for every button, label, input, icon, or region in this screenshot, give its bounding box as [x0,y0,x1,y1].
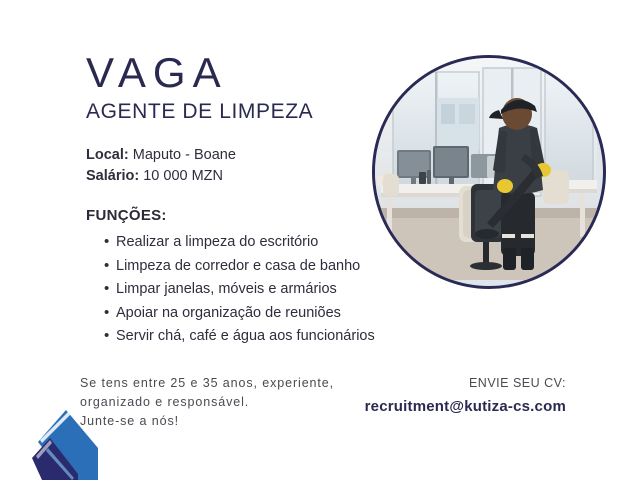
list-item: Realizar a limpeza do escritório [104,231,386,254]
cv-contact-block: ENVIE SEU CV: recruitment@kutiza-cs.com [365,374,566,418]
page-subtitle: AGENTE DE LIMPEZA [86,100,386,123]
location-value: Maputo - Boane [133,147,236,163]
duties-list: Realizar a limpeza do escritório Limpeza… [86,231,386,348]
location-row: Local: Maputo - Boane [86,145,386,166]
list-item: Servir chá, café e água aos funcionários [104,325,386,348]
duties-heading: FUNÇÕES: [86,207,386,224]
job-details: Local: Maputo - Boane Salário: 10 000 MZ… [86,145,386,187]
list-item: Limpar janelas, móveis e armários [104,278,386,301]
list-item: Apoiar na organização de reuniões [104,302,386,325]
requirements-line-1: Se tens entre 25 e 35 anos, experiente, [80,374,334,393]
cv-label: ENVIE SEU CV: [365,374,566,393]
requirements-line-2: organizado e responsável. [80,393,334,412]
cleaner-photo [372,55,606,289]
poster-content: VAGA AGENTE DE LIMPEZA Local: Maputo - B… [86,52,386,349]
salary-value: 10 000 MZN [143,168,223,184]
list-item: Limpeza de corredor e casa de banho [104,255,386,278]
job-vacancy-poster: VAGA AGENTE DE LIMPEZA Local: Maputo - B… [0,0,640,480]
requirements-line-3: Junte-se a nós! [80,412,334,431]
office-cleaning-illustration [375,58,597,280]
location-label: Local: [86,147,129,163]
page-title: VAGA [86,52,386,94]
requirements-text: Se tens entre 25 e 35 anos, experiente, … [80,374,334,431]
cv-email-address[interactable]: recruitment@kutiza-cs.com [365,396,566,419]
salary-label: Salário: [86,168,139,184]
salary-row: Salário: 10 000 MZN [86,166,386,187]
